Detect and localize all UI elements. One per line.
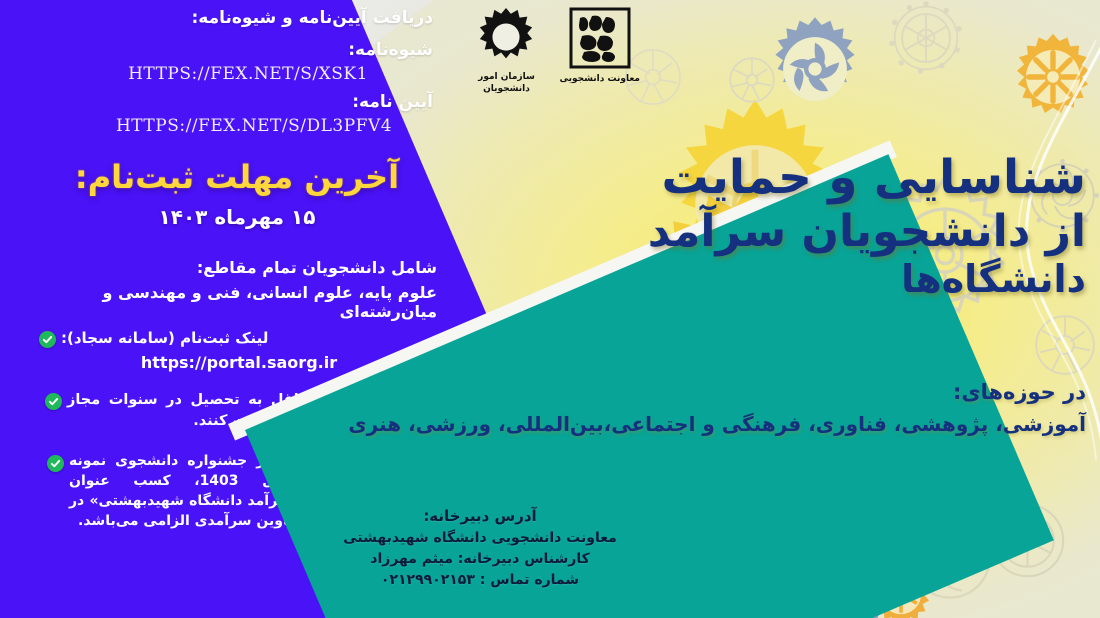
fields-list: آموزشی، پژوهشی، فناوری، فرهنگی و اجتماعی… — [76, 412, 1086, 436]
shahid-beheshti-university-logo: معاونت دانشجویی — [559, 6, 640, 86]
gear-icon — [880, 0, 972, 84]
student-affairs-organization-logo: سازمان امور دانشجویان — [475, 6, 537, 95]
logo-row: معاونت دانشجویی سازمان امور دانشجویان — [420, 6, 640, 110]
secretariat-phone: شماره تماس : ۰۲۱۲۹۹۰۲۱۵۳ — [300, 570, 660, 591]
downloads-heading: دریافت آیین‌نامه و شیوه‌نامه: — [63, 8, 433, 28]
gear-icon — [1008, 32, 1098, 122]
gear-icon — [760, 14, 870, 124]
secretariat-office: معاونت دانشجویی دانشگاه شهیدبهشتی — [300, 528, 660, 549]
page-title: شناسایی و حمایت از دانشجویان سرآمد دانشگ… — [526, 152, 1086, 300]
check-circle-icon — [47, 455, 64, 472]
shahid-beheshti-logo-caption: معاونت دانشجویی — [559, 74, 640, 86]
secretariat-contact-block: آدرس دبیرخانه: معاونت دانشجویی دانشگاه ش… — [300, 505, 660, 618]
headline-line-3: دانشگاه‌ها — [526, 258, 1086, 301]
check-circle-icon — [45, 393, 62, 410]
regulation-doc-label: آیین نامه: — [63, 92, 433, 112]
headline-line-2: از دانشجویان سرآمد — [526, 207, 1086, 256]
student-affairs-logo-caption: سازمان امور دانشجویان — [478, 72, 535, 95]
fields-section: در حوزه‌های: آموزشی، پژوهشی، فناوری، فره… — [76, 380, 1086, 436]
starburst-emblem-icon — [475, 6, 537, 68]
check-circle-icon — [39, 331, 56, 348]
gear-icon — [718, 46, 786, 114]
method-doc-url[interactable]: HTTPS://FEX.NET/S/XSK1 — [63, 64, 433, 84]
list-item: لینک ثبت‌نام (سامانه سجاد): — [39, 328, 439, 349]
deadline-date: ۱۵ مهرماه ۱۴۰۳ — [47, 205, 427, 229]
secretariat-expert: کارشناس دبیرخانه: میثم مهرزاد — [300, 549, 660, 570]
secretariat-heading: آدرس دبیرخانه: — [300, 505, 660, 528]
university-emblem-icon — [568, 6, 632, 70]
deadline-title: آخرین مهلت ثبت‌نام: — [47, 158, 427, 196]
headline-line-1: شناسایی و حمایت — [526, 152, 1086, 205]
registration-link-label: لینک ثبت‌نام (سامانه سجاد): — [61, 328, 268, 349]
method-doc-label: شیوه‌نامه: — [63, 40, 433, 60]
eligible-levels-list: علوم پایه، علوم انسانی، فنی و مهندسی و م… — [37, 283, 437, 321]
poster-canvas: دریافت آیین‌نامه و شیوه‌نامه: شیوه‌نامه:… — [0, 0, 1100, 618]
gear-icon — [1020, 300, 1100, 390]
regulation-doc-url[interactable]: HTTPS://FEX.NET/S/DL3PFV4 — [69, 116, 439, 136]
eligible-levels-heading: شامل دانشجویان تمام مقاطع: — [37, 258, 437, 277]
fields-heading: در حوزه‌های: — [76, 380, 1086, 404]
